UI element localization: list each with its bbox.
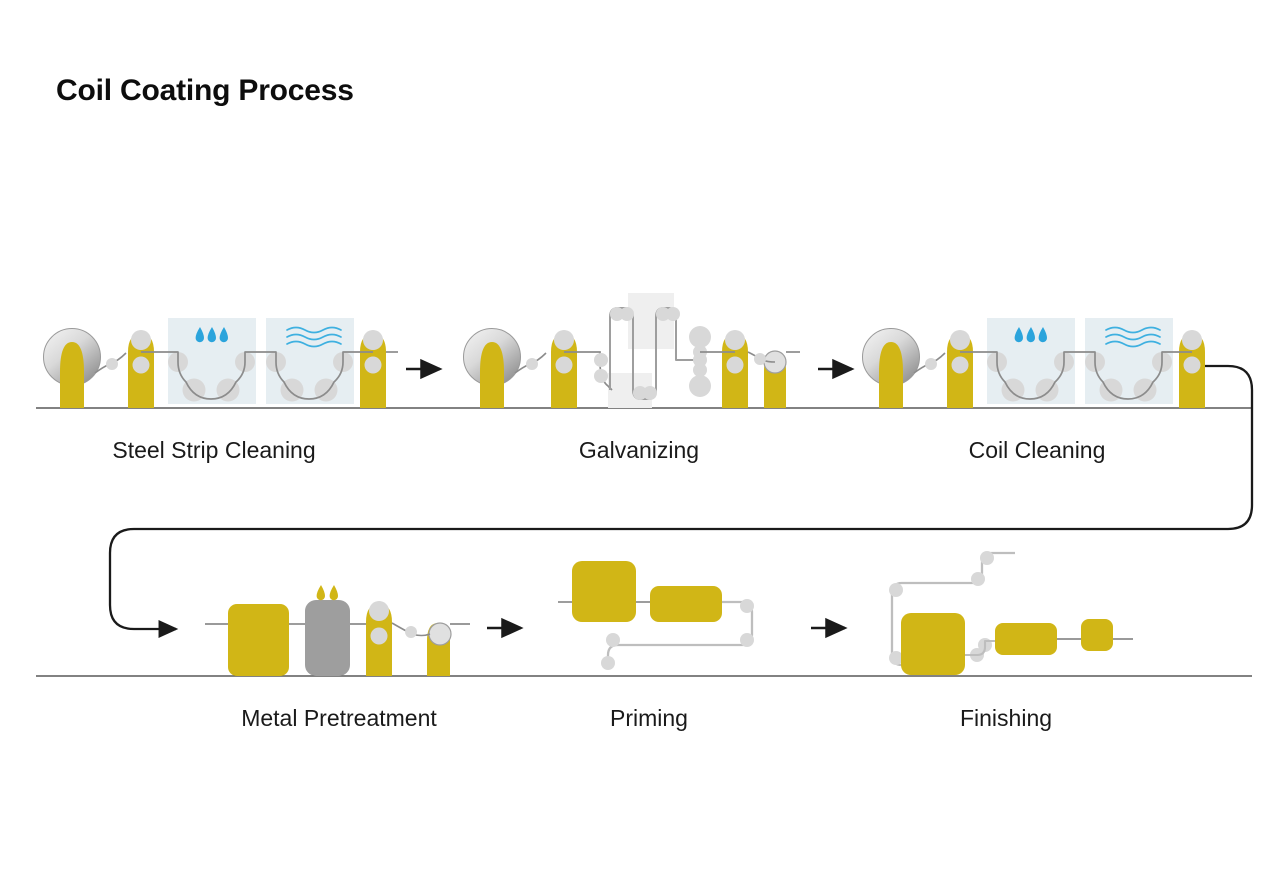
stage-label-coil-cleaning: Coil Cleaning xyxy=(969,437,1106,464)
stage-priming[interactable] xyxy=(558,561,754,670)
roller-icon xyxy=(601,656,615,670)
roller-icon xyxy=(369,601,389,621)
roller-icon xyxy=(363,330,383,350)
stage-label-priming: Priming xyxy=(610,705,688,732)
water-droplets-icon xyxy=(1015,327,1047,342)
stage-coil-cleaning[interactable] xyxy=(863,318,1206,408)
roller-icon xyxy=(754,353,766,365)
top-row xyxy=(36,293,1252,408)
stage-metal-pretreatment[interactable] xyxy=(205,585,470,676)
roller-icon xyxy=(980,551,994,565)
roller-icon xyxy=(643,386,657,400)
roller-icon xyxy=(526,358,538,370)
roller-icon xyxy=(952,357,969,374)
stage-steel-strip-cleaning[interactable] xyxy=(44,318,399,408)
roller-icon xyxy=(971,572,985,586)
stage-label-finishing: Finishing xyxy=(960,705,1052,732)
roller-icon xyxy=(405,626,417,638)
roller-icon xyxy=(606,633,620,647)
stage-finishing[interactable] xyxy=(889,551,1133,675)
roller-icon xyxy=(556,357,573,374)
stage-label-metal-pretreatment: Metal Pretreatment xyxy=(241,705,437,732)
roller-icon xyxy=(740,633,754,647)
roller-icon xyxy=(1182,330,1202,350)
roller-icon xyxy=(106,358,118,370)
oven-box-small xyxy=(650,586,722,622)
coating-droplets-icon xyxy=(317,585,338,600)
stage-galvanizing[interactable] xyxy=(464,293,801,408)
roller-icon xyxy=(725,330,745,350)
roller-icon xyxy=(620,307,634,321)
roller-icon xyxy=(554,330,574,350)
roller-icon xyxy=(594,353,608,367)
page-title: Coil Coating Process xyxy=(56,74,354,108)
roller-icon xyxy=(429,623,451,645)
roller-icon xyxy=(594,369,608,383)
roller-icon xyxy=(666,307,680,321)
roller-icon xyxy=(131,330,151,350)
roller-icon xyxy=(925,358,937,370)
coater-box-gray xyxy=(305,600,350,676)
stage-label-steel-strip-cleaning: Steel Strip Cleaning xyxy=(112,437,315,464)
roller-icon xyxy=(740,599,754,613)
roller-icon xyxy=(889,583,903,597)
coil-coating-process-diagram: Coil Coating Process xyxy=(0,0,1280,892)
roller-icon xyxy=(1184,357,1201,374)
oven-box-small xyxy=(1081,619,1113,651)
roller-icon xyxy=(727,357,744,374)
water-droplets-icon xyxy=(196,327,228,342)
roller-icon xyxy=(133,357,150,374)
roller-icon xyxy=(371,628,388,645)
coil-stand xyxy=(60,342,84,408)
bottom-row xyxy=(36,551,1252,676)
coil-stand xyxy=(879,342,903,408)
oven-box-large xyxy=(572,561,636,622)
stage-label-galvanizing: Galvanizing xyxy=(579,437,699,464)
coater-box-yellow xyxy=(228,604,289,676)
coil-stand xyxy=(480,342,504,408)
oven-box-medium xyxy=(995,623,1057,655)
roller-icon xyxy=(365,357,382,374)
oven-box-large xyxy=(901,613,965,675)
furnace-box-top xyxy=(628,293,674,349)
roller-icon xyxy=(950,330,970,350)
roller-icon xyxy=(889,651,903,665)
